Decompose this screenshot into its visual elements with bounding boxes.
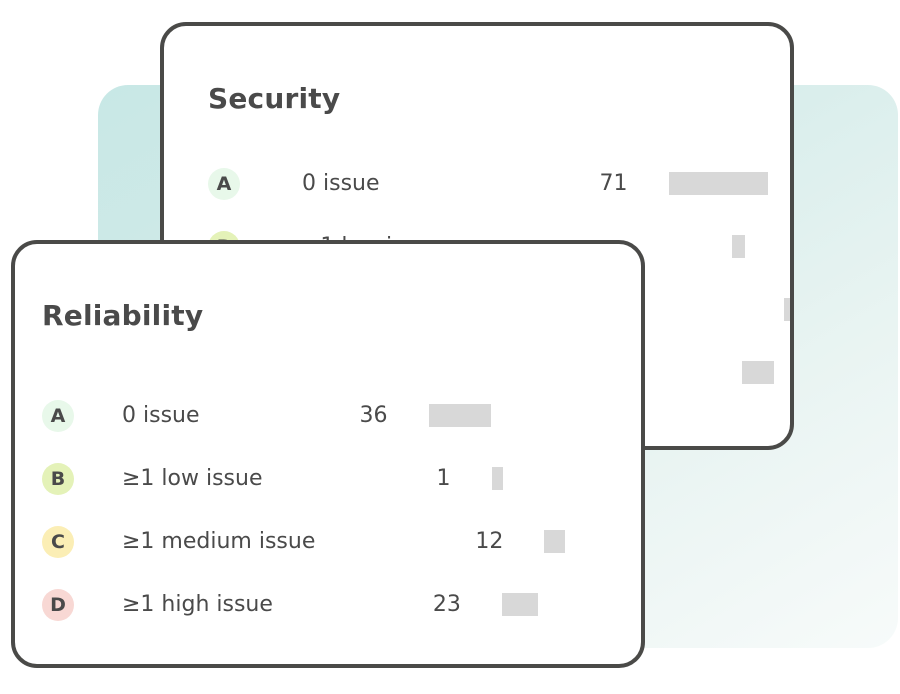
issue-label: ≥1 high issue (122, 592, 273, 617)
issue-label: ≥1 medium issue (122, 529, 315, 554)
distribution-bar (784, 298, 794, 321)
reliability-row-a[interactable]: A 0 issue 36 (42, 384, 642, 447)
distribution-bar (492, 467, 503, 490)
bar-cell (742, 361, 774, 384)
grade-badge-a: A (208, 168, 240, 200)
distribution-bar (429, 404, 491, 427)
grade-badge-a: A (42, 400, 74, 432)
reliability-row-b[interactable]: B ≥1 low issue 1 (42, 447, 642, 510)
bar-cell (429, 404, 491, 427)
issue-label: 0 issue (122, 403, 200, 428)
distribution-bar (502, 593, 538, 616)
issue-label: ≥1 low issue (122, 466, 263, 491)
grade-badge-c: C (42, 526, 74, 558)
project-count: 12 (323, 529, 503, 554)
reliability-row-c[interactable]: C ≥1 medium issue 12 (42, 510, 642, 573)
project-count: 71 (388, 171, 628, 196)
project-count: 23 (281, 592, 461, 617)
security-card-title: Security (208, 82, 340, 115)
reliability-card[interactable]: Reliability A 0 issue 36 B ≥1 low issue … (11, 240, 645, 668)
project-count: 1 (271, 466, 451, 491)
bar-cell (502, 593, 538, 616)
project-count: 36 (208, 403, 388, 428)
bar-cell (544, 530, 565, 553)
distribution-bar (544, 530, 565, 553)
reliability-rows: A 0 issue 36 B ≥1 low issue 1 C ≥1 mediu… (42, 384, 642, 636)
reliability-row-d[interactable]: D ≥1 high issue 23 (42, 573, 642, 636)
grade-badge-b: B (42, 463, 74, 495)
security-row-a[interactable]: A 0 issue 71 (208, 152, 788, 215)
distribution-bar (742, 361, 774, 384)
bar-cell (784, 298, 794, 321)
reliability-card-title: Reliability (42, 299, 203, 332)
bar-cell (492, 467, 503, 490)
bar-cell (732, 235, 745, 258)
grade-badge-d: D (42, 589, 74, 621)
issue-label: 0 issue (302, 171, 380, 196)
distribution-bar (669, 172, 768, 195)
screenshot-stage: Security A 0 issue 71 B ≥1 low issue C (0, 0, 900, 694)
bar-cell (669, 172, 768, 195)
distribution-bar (732, 235, 745, 258)
